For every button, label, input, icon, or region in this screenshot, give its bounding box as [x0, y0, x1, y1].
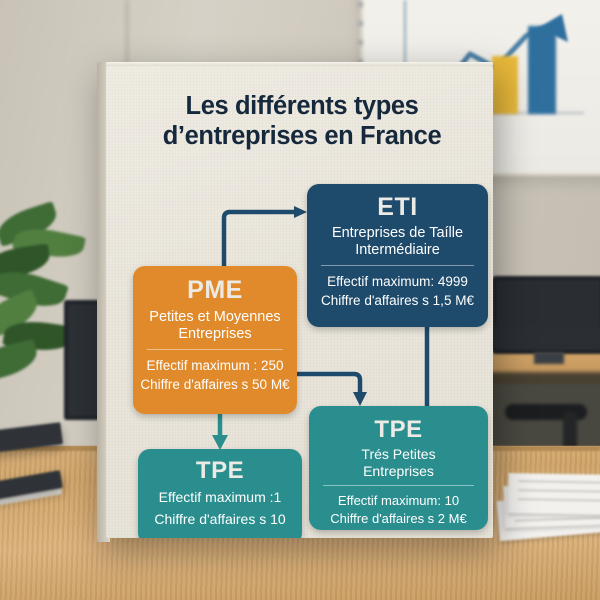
- arrowhead-pme-to-tpe-left: [212, 435, 228, 450]
- box-tpe-right-headcount: Effectif maximum: 10: [309, 492, 488, 511]
- arrowhead-pme-to-tpe-right: [353, 392, 367, 406]
- box-eti-subtitle-line-2: Intermédiaire: [307, 242, 488, 259]
- paper-sheet: [508, 473, 600, 515]
- arrowhead-pme-to-eti: [294, 206, 307, 218]
- box-pme-code: PME: [133, 276, 297, 305]
- box-tpe-right-subtitle-line-2: Entreprises: [309, 463, 488, 480]
- box-pme-subtitle-line-1: Petites et Moyennes: [133, 309, 297, 326]
- box-pme[interactable]: PME Petites et Moyennes Entreprises Effe…: [133, 266, 297, 414]
- box-tpe-right-subtitle: Trés Petites Entreprises: [309, 446, 488, 480]
- monitor-right-stand: [534, 352, 564, 364]
- box-pme-divider: [147, 349, 283, 350]
- box-tpe-left-code: TPE: [138, 457, 302, 485]
- box-eti-headcount: Effectif maximum: 4999: [307, 272, 488, 292]
- box-tpe-left-headcount: Effectif maximum :1: [138, 487, 302, 507]
- box-eti-code: ETI: [307, 193, 488, 222]
- box-tpe-right-code: TPE: [309, 416, 488, 444]
- box-tpe-right[interactable]: TPE Trés Petites Entreprises Effectif ma…: [309, 406, 488, 530]
- box-eti-divider: [321, 265, 474, 266]
- box-tpe-right-divider: [323, 485, 474, 486]
- box-tpe-right-revenue: Chiffre d'affaires s 2 M€: [309, 510, 488, 529]
- box-eti-subtitle-line-1: Entreprises de Taílle: [307, 225, 488, 242]
- box-tpe-left-revenue: Chiffre d'affaires s 10: [138, 509, 302, 529]
- box-tpe-right-subtitle-line-1: Trés Petites: [309, 446, 488, 463]
- paper-stack: [498, 470, 600, 542]
- connector-pme-to-eti: [224, 212, 296, 266]
- box-pme-subtitle: Petites et Moyennes Entreprises: [133, 309, 297, 344]
- box-eti-revenue: Chiffre d'affaires s 1,5 M€: [307, 291, 488, 311]
- chart-bar-2: [528, 26, 556, 114]
- screenshot-scene: Les différents types d’entreprises en Fr…: [0, 0, 600, 600]
- box-eti[interactable]: ETI Entreprises de Taílle Intermédiaire …: [307, 184, 488, 327]
- box-tpe-left[interactable]: TPE Effectif maximum :1 Chiffre d'affair…: [138, 449, 302, 538]
- box-pme-revenue: Chiffre d'affaires s 50 M€: [133, 375, 297, 395]
- box-eti-subtitle: Entreprises de Taílle Intermédiaire: [307, 225, 488, 260]
- chart-bar-1: [492, 56, 518, 114]
- box-pme-subtitle-line-2: Entreprises: [133, 326, 297, 343]
- canvas-poster: Les différents types d’entreprises en Fr…: [97, 62, 493, 542]
- poster-surface: Les différents types d’entreprises en Fr…: [106, 66, 493, 538]
- keyboard: [492, 326, 600, 348]
- box-pme-headcount: Effectif maximum : 250: [133, 356, 297, 376]
